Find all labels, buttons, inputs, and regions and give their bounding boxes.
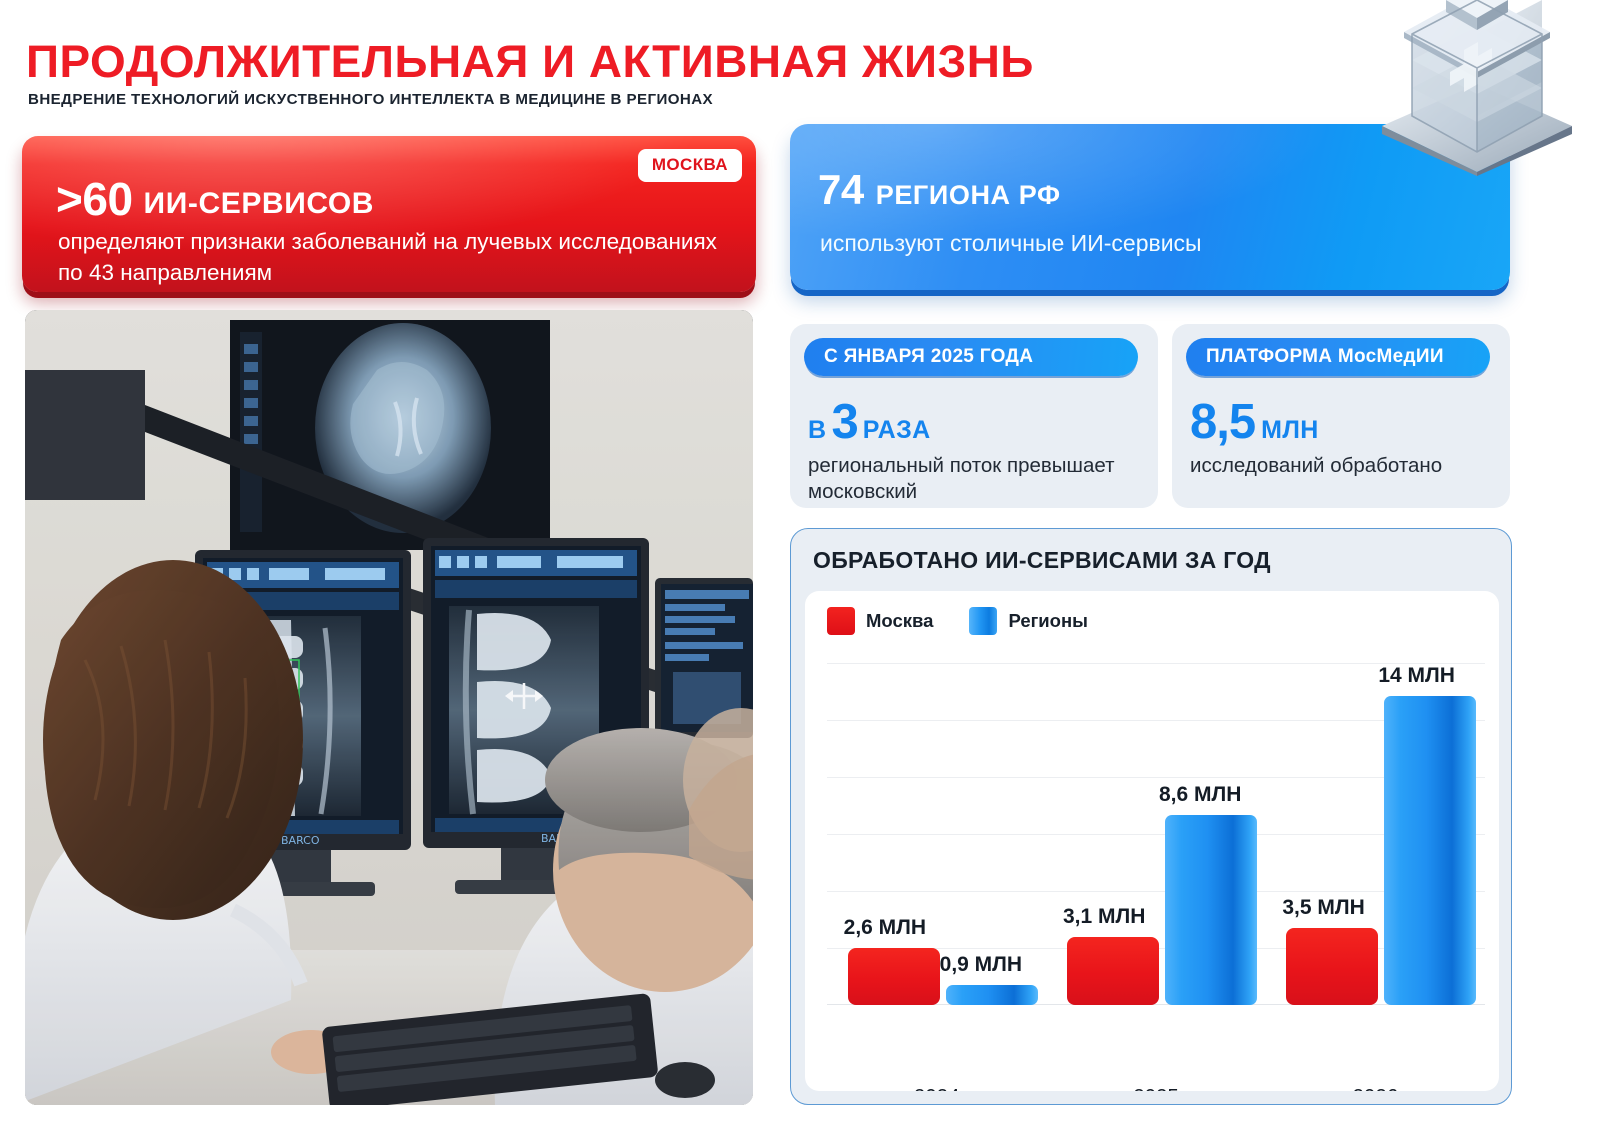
bar-regions-2024 <box>946 985 1038 1005</box>
blue-banner-headline: 74РЕГИОНА РФ <box>818 166 1061 214</box>
card-value-suffix: РАЗА <box>863 416 931 444</box>
red-banner-description: определяют признаки заболеваний на лучев… <box>58 226 718 288</box>
blue-banner-description: используют столичные ИИ-сервисы <box>820 230 1202 257</box>
card-value-suffix: МЛН <box>1261 416 1319 444</box>
x-axis-label-2026: 2026(прогноз) <box>1266 1085 1485 1091</box>
card-value-prefix: В <box>808 416 826 444</box>
card-description: региональный поток превышает московский <box>808 453 1154 505</box>
blue-banner-number: 74 <box>818 166 864 213</box>
card-since-january: С ЯНВАРЯ 2025 ГОДА В3РАЗА региональный п… <box>790 324 1158 508</box>
page-title: ПРОДОЛЖИТЕЛЬНАЯ И АКТИВНАЯ ЖИЗНЬ <box>26 36 1034 88</box>
infographic-page: ПРОДОЛЖИТЕЛЬНАЯ И АКТИВНАЯ ЖИЗНЬ ВНЕДРЕН… <box>0 0 1600 1132</box>
chart-group-2024: 2,6 МЛН0,9 МЛН2024 <box>827 663 1046 1005</box>
x-axis-label-2025: 2025 <box>1046 1085 1265 1091</box>
blue-banner-unit: РЕГИОНА РФ <box>876 180 1061 210</box>
card-mosmedii-platform: ПЛАТФОРМА МосМедИИ 8,5МЛН исследований о… <box>1172 324 1510 508</box>
chart-group-2025: 3,1 МЛН8,6 МЛН2025 <box>1046 663 1265 1005</box>
bar-regions-2026 <box>1384 696 1476 1005</box>
card-pill-label: С ЯНВАРЯ 2025 ГОДА <box>804 338 1138 376</box>
bar-moscow-2024 <box>848 948 940 1005</box>
red-banner-number: >60 <box>56 173 133 225</box>
bar-label-regions-2024: 0,9 МЛН <box>940 953 1022 977</box>
legend-swatch-moscow <box>827 607 855 635</box>
bar-label-moscow-2025: 3,1 МЛН <box>1063 905 1145 929</box>
bar-label-moscow-2024: 2,6 МЛН <box>844 916 926 940</box>
bar-label-regions-2026: 14 МЛН <box>1378 664 1455 688</box>
bar-regions-2025 <box>1165 815 1257 1005</box>
moscow-badge: МОСКВА <box>638 149 742 182</box>
bar-moscow-2025 <box>1067 937 1159 1005</box>
chart-title: ОБРАБОТАНО ИИ-СЕРВИСАМИ ЗА ГОД <box>813 547 1271 574</box>
legend-label-moscow: Москва <box>866 610 933 632</box>
page-subtitle: ВНЕДРЕНИЕ ТЕХНОЛОГИЙ ИСКУСТВЕННОГО ИНТЕЛ… <box>28 91 713 108</box>
red-banner-headline: >60ИИ-СЕРВИСОВ <box>56 172 374 226</box>
chart-group-2026: 3,5 МЛН14 МЛН2026(прогноз) <box>1266 663 1485 1005</box>
hospital-building-icon <box>1372 0 1582 176</box>
legend-swatch-regions <box>969 607 997 635</box>
card-value: 8,5МЛН <box>1190 394 1319 450</box>
radiology-workstation-photo: BARCO BARCO <box>25 310 753 1105</box>
hospital-building-glyph <box>1372 0 1582 176</box>
card-value: В3РАЗА <box>808 394 931 450</box>
chart-bars: 2,6 МЛН0,9 МЛН20243,1 МЛН8,6 МЛН20253,5 … <box>827 663 1485 1005</box>
red-stat-banner: МОСКВА >60ИИ-СЕРВИСОВ определяют признак… <box>22 136 756 292</box>
card-value-number: 8,5 <box>1190 395 1255 449</box>
chart-legend: Москва Регионы <box>827 607 1088 635</box>
photo-illustration: BARCO BARCO <box>25 310 753 1105</box>
bar-label-regions-2025: 8,6 МЛН <box>1159 783 1241 807</box>
bar-label-moscow-2026: 3,5 МЛН <box>1282 896 1364 920</box>
card-description: исследований обработано <box>1190 453 1442 479</box>
card-pill-label: ПЛАТФОРМА МосМедИИ <box>1186 338 1490 376</box>
red-banner-unit: ИИ-СЕРВИСОВ <box>144 187 375 220</box>
chart-card: ОБРАБОТАНО ИИ-СЕРВИСАМИ ЗА ГОД Москва Ре… <box>790 528 1512 1105</box>
chart-plot-area: Москва Регионы 2,6 МЛН0,9 МЛН20243,1 МЛН… <box>805 591 1499 1091</box>
card-value-number: 3 <box>831 395 857 449</box>
x-axis-label-2024: 2024 <box>827 1085 1046 1091</box>
legend-label-regions: Регионы <box>1008 610 1088 632</box>
bar-moscow-2026 <box>1286 928 1378 1005</box>
